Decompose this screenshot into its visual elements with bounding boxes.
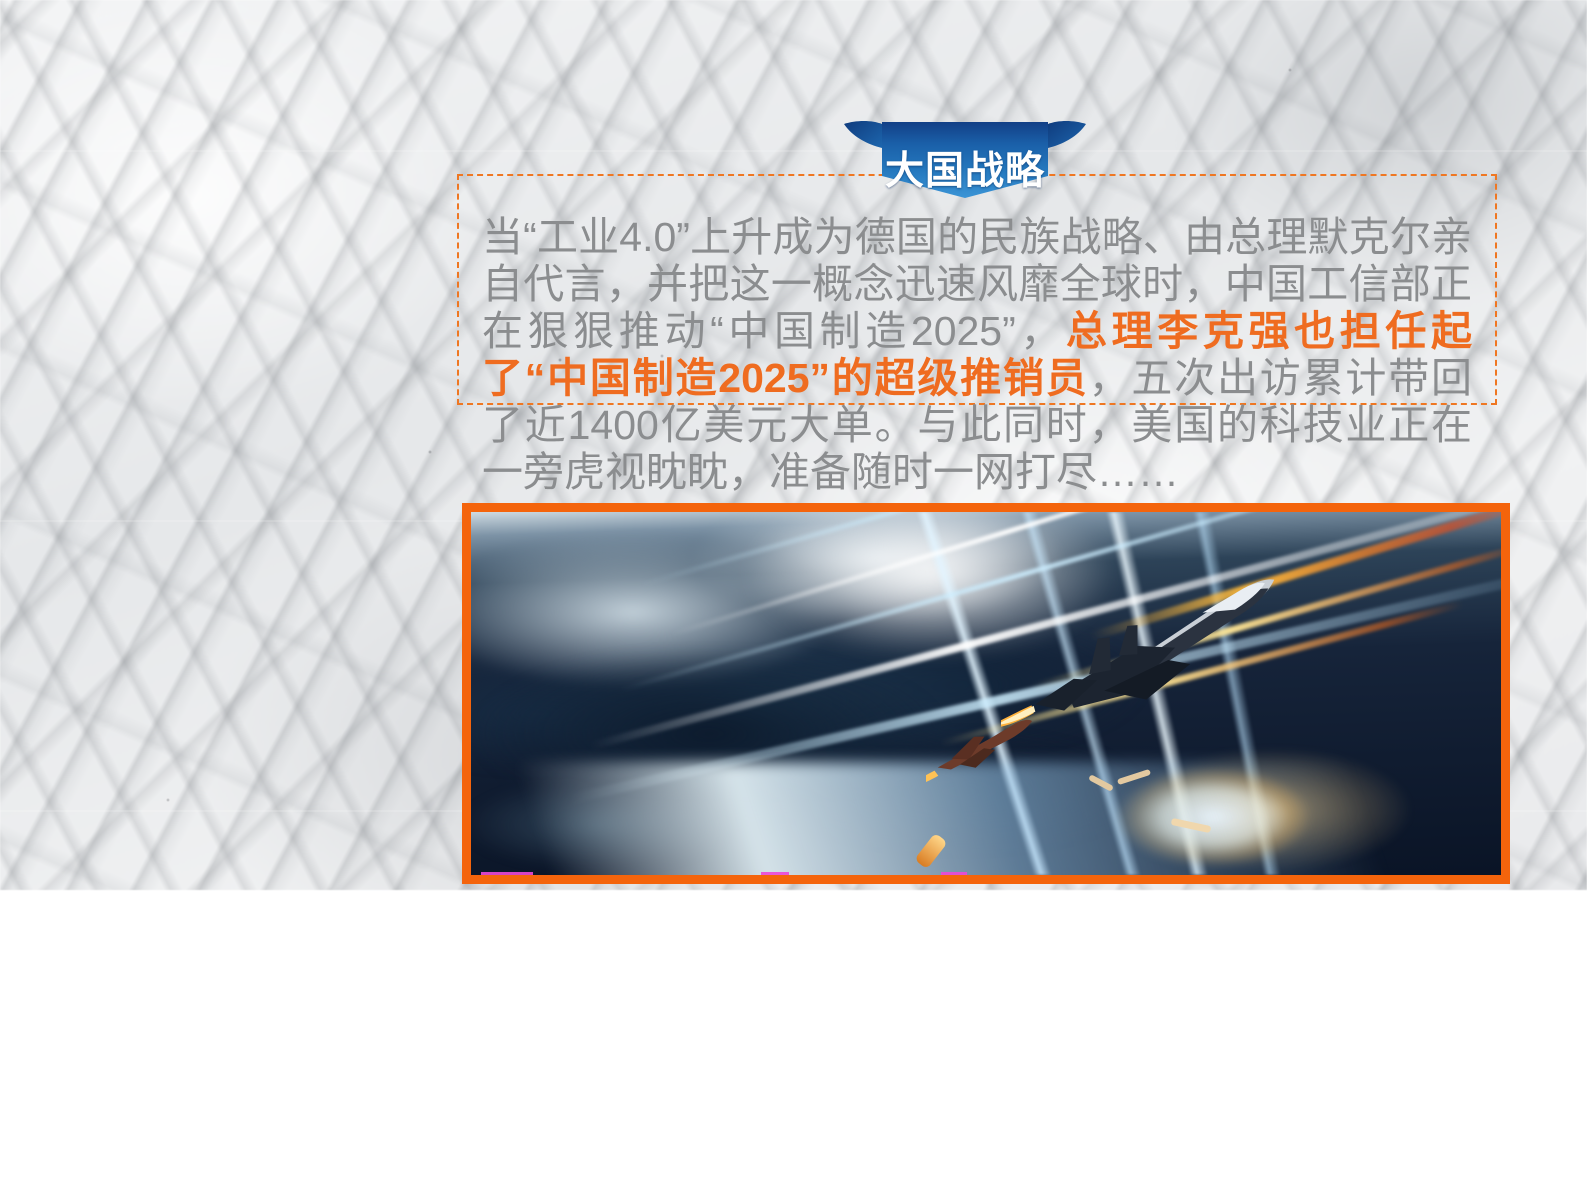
secondary-aircraft-icon	[926, 712, 1056, 782]
photo-frame	[462, 503, 1510, 884]
bottom-edge-ticks	[471, 872, 1501, 875]
ribbon-banner: 大国战略	[842, 118, 1088, 198]
slide-canvas: 大国战略 当“工业4.0”上升成为德国的民族战略、由总理默克尔亲自代言，并把这一…	[0, 0, 1587, 1182]
body-paragraph: 当“工业4.0”上升成为德国的民族战略、由总理默克尔亲自代言，并把这一概念迅速风…	[482, 214, 1472, 496]
ribbon-title: 大国战略	[842, 118, 1088, 198]
aerial-combat-illustration	[471, 512, 1501, 875]
